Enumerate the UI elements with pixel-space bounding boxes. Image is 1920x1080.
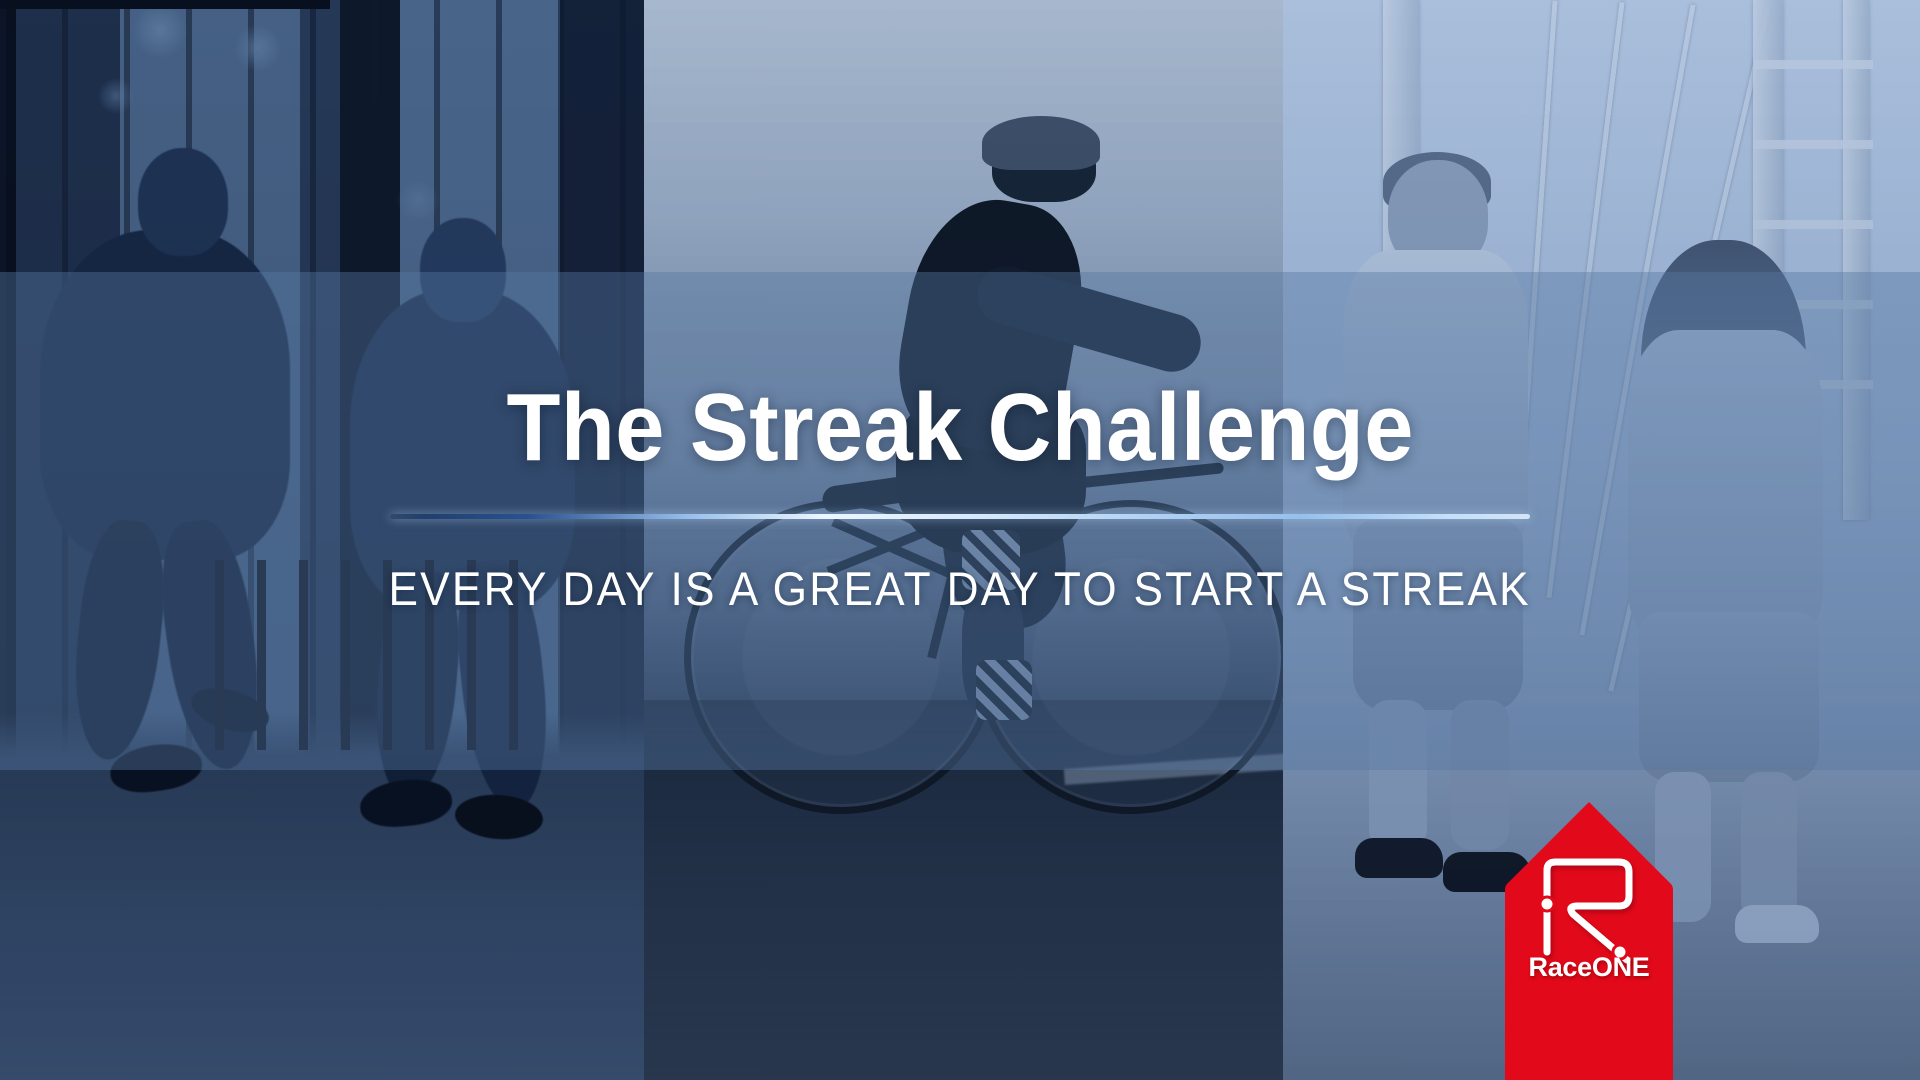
title-divider — [390, 514, 1530, 519]
raceone-wordmark: RaceONE — [1503, 952, 1675, 983]
hero-subtitle: EVERY DAY IS A GREAT DAY TO START A STRE… — [389, 561, 1531, 616]
page-title: The Streak Challenge — [506, 380, 1413, 476]
raceone-logo[interactable]: RaceONE — [1503, 800, 1675, 1080]
streak-challenge-banner: The Streak Challenge EVERY DAY IS A GREA… — [0, 0, 1920, 1080]
